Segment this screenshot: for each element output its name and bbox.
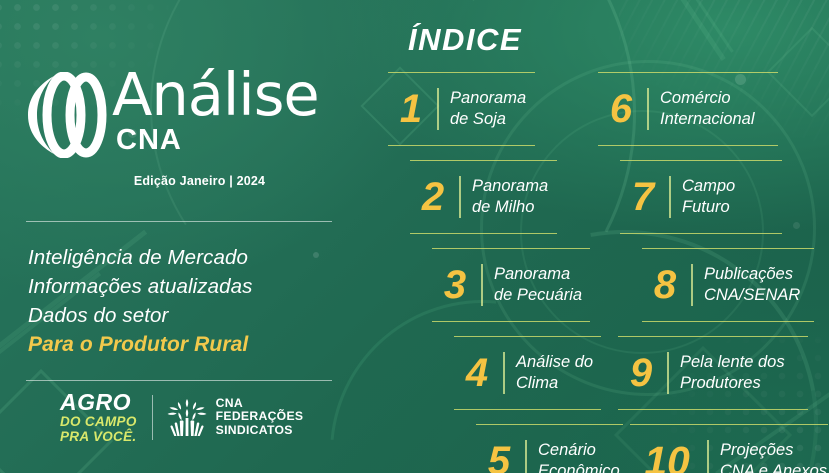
entry-label-line-2: CNA e Anexos: [720, 461, 827, 473]
agro-logo: AGRO DO CAMPO PRA VOCÊ.: [60, 391, 137, 443]
entry-rule-bottom: [598, 145, 778, 146]
entry-number: 10: [636, 441, 698, 473]
entry-rule-bottom: [642, 321, 814, 322]
entry-label-line-2: CNA/SENAR: [704, 285, 800, 306]
index-title: ÍNDICE: [408, 22, 522, 58]
index-entry-2[interactable]: 2 Panorama de Milho: [410, 160, 557, 234]
entry-divider: [691, 264, 693, 306]
entry-label-line-1: Panorama: [472, 176, 548, 197]
entry-label: Panorama de Soja: [450, 88, 526, 130]
entry-label-line-2: Produtores: [680, 373, 785, 394]
entry-label-line-2: Futuro: [682, 197, 735, 218]
stripe-decoration: [636, 0, 734, 53]
entry-rule-top: [388, 72, 535, 73]
entry-label-line-1: Comércio: [660, 88, 754, 109]
cna-wordmark: CNA FEDERAÇÕES SINDICATOS: [216, 397, 304, 438]
entry-rule-top: [642, 248, 814, 249]
entry-rule-top: [476, 424, 623, 425]
brand-wordmark: Análise CNA: [112, 68, 319, 157]
entry-label: Cenário Econômico: [538, 440, 620, 473]
agro-line-1: AGRO: [60, 391, 137, 414]
entry-label: Panorama de Pecuária: [494, 264, 582, 306]
entry-label-line-1: Projeções: [720, 440, 827, 461]
entry-label-line-1: Cenário: [538, 440, 620, 461]
entry-label: Análise do Clima: [516, 352, 593, 394]
index-entry-7[interactable]: 7 Campo Futuro: [620, 160, 782, 234]
entry-label-line-2: Internacional: [660, 109, 754, 130]
entry-label-line-2: Econômico: [538, 461, 620, 473]
entry-label-line-2: de Pecuária: [494, 285, 582, 306]
tagline-line-1: Inteligência de Mercado: [28, 243, 253, 272]
agro-line-3: PRA VOCÊ.: [60, 430, 137, 444]
agro-line-2: DO CAMPO: [60, 415, 137, 429]
entry-number: 6: [604, 89, 638, 129]
index-entry-4[interactable]: 4 Análise do Clima: [454, 336, 601, 410]
entry-label-line-1: Panorama: [494, 264, 582, 285]
entry-divider: [667, 352, 669, 394]
entry-rule-bottom: [618, 409, 808, 410]
entry-divider: [459, 176, 461, 218]
entry-rule-top: [432, 248, 590, 249]
entry-label: Panorama de Milho: [472, 176, 548, 218]
footer-logos: AGRO DO CAMPO PRA VOCÊ.: [60, 391, 303, 443]
divider-top: [26, 221, 332, 222]
entry-label-line-2: de Milho: [472, 197, 548, 218]
entry-divider: [481, 264, 483, 306]
entry-rule-top: [630, 424, 828, 425]
entry-label: Publicações CNA/SENAR: [704, 264, 800, 306]
entry-rule-bottom: [432, 321, 590, 322]
index-entry-1[interactable]: 1 Panorama de Soja: [388, 72, 535, 146]
entry-rule-bottom: [454, 409, 601, 410]
brand-logo: Análise CNA: [24, 68, 319, 158]
entry-number: 3: [438, 265, 472, 305]
tagline-block: Inteligência de Mercado Informações atua…: [28, 243, 253, 360]
entry-label: Pela lente dos Produtores: [680, 352, 785, 394]
entry-number: 8: [648, 265, 682, 305]
index-entry-6[interactable]: 6 Comércio Internacional: [598, 72, 778, 146]
entry-rule-top: [620, 160, 782, 161]
entry-label-line-1: Análise do: [516, 352, 593, 373]
index-entry-9[interactable]: 9 Pela lente dos Produtores: [618, 336, 808, 410]
entry-rule-top: [410, 160, 557, 161]
index-entry-3[interactable]: 3 Panorama de Pecuária: [432, 248, 590, 322]
index-entry-8[interactable]: 8 Publicações CNA/SENAR: [642, 248, 814, 322]
entry-label-line-1: Panorama: [450, 88, 526, 109]
entry-label-line-2: Clima: [516, 373, 593, 394]
entry-number: 1: [394, 89, 428, 129]
brand-sub: CNA: [116, 124, 319, 157]
entry-divider: [647, 88, 649, 130]
stripe-decoration: [604, 0, 726, 61]
entry-label: Projeções CNA e Anexos: [720, 440, 827, 473]
footer-vertical-divider: [152, 395, 153, 440]
cna-line-2: FEDERAÇÕES: [216, 410, 304, 424]
tagline-line-2: Informações atualizadas: [28, 272, 253, 301]
entry-number: 4: [460, 353, 494, 393]
entry-label-line-1: Publicações: [704, 264, 800, 285]
edition-label: Edição Janeiro | 2024: [92, 174, 307, 188]
entry-label: Campo Futuro: [682, 176, 735, 218]
brand-name: Análise: [112, 68, 319, 122]
poster-canvas: Análise CNA Edição Janeiro | 2024 Inteli…: [0, 0, 829, 473]
entry-rule-top: [618, 336, 808, 337]
entry-divider: [669, 176, 671, 218]
entry-number: 7: [626, 177, 660, 217]
entry-label: Comércio Internacional: [660, 88, 754, 130]
entry-divider: [437, 88, 439, 130]
analise-rings-logo-icon: [24, 72, 110, 158]
cna-federacoes-logo: CNA FEDERAÇÕES SINDICATOS: [166, 397, 304, 438]
entry-rule-bottom: [410, 233, 557, 234]
index-entry-10[interactable]: 10 Projeções CNA e Anexos: [630, 424, 828, 473]
entry-number: 5: [482, 441, 516, 473]
left-panel: Análise CNA Edição Janeiro | 2024 Inteli…: [0, 0, 372, 473]
entry-rule-top: [454, 336, 601, 337]
entry-label-line-1: Pela lente dos: [680, 352, 785, 373]
tagline-line-3: Dados do setor: [28, 301, 253, 330]
entry-number: 2: [416, 177, 450, 217]
entry-rule-bottom: [620, 233, 782, 234]
entry-divider: [525, 440, 527, 473]
entry-number: 9: [624, 353, 658, 393]
wheat-sheaf-icon: [166, 397, 208, 437]
tagline-line-4: Para o Produtor Rural: [28, 330, 253, 360]
entry-rule-top: [598, 72, 778, 73]
entry-rule-bottom: [388, 145, 535, 146]
divider-bottom: [26, 380, 332, 381]
index-entry-5[interactable]: 5 Cenário Econômico: [476, 424, 623, 473]
entry-divider: [707, 440, 709, 473]
cna-line-3: SINDICATOS: [216, 424, 304, 438]
index-list: 1 Panorama de Soja 2 Panorama de Milho: [380, 66, 829, 466]
entry-label-line-1: Campo: [682, 176, 735, 197]
entry-divider: [503, 352, 505, 394]
entry-label-line-2: de Soja: [450, 109, 526, 130]
